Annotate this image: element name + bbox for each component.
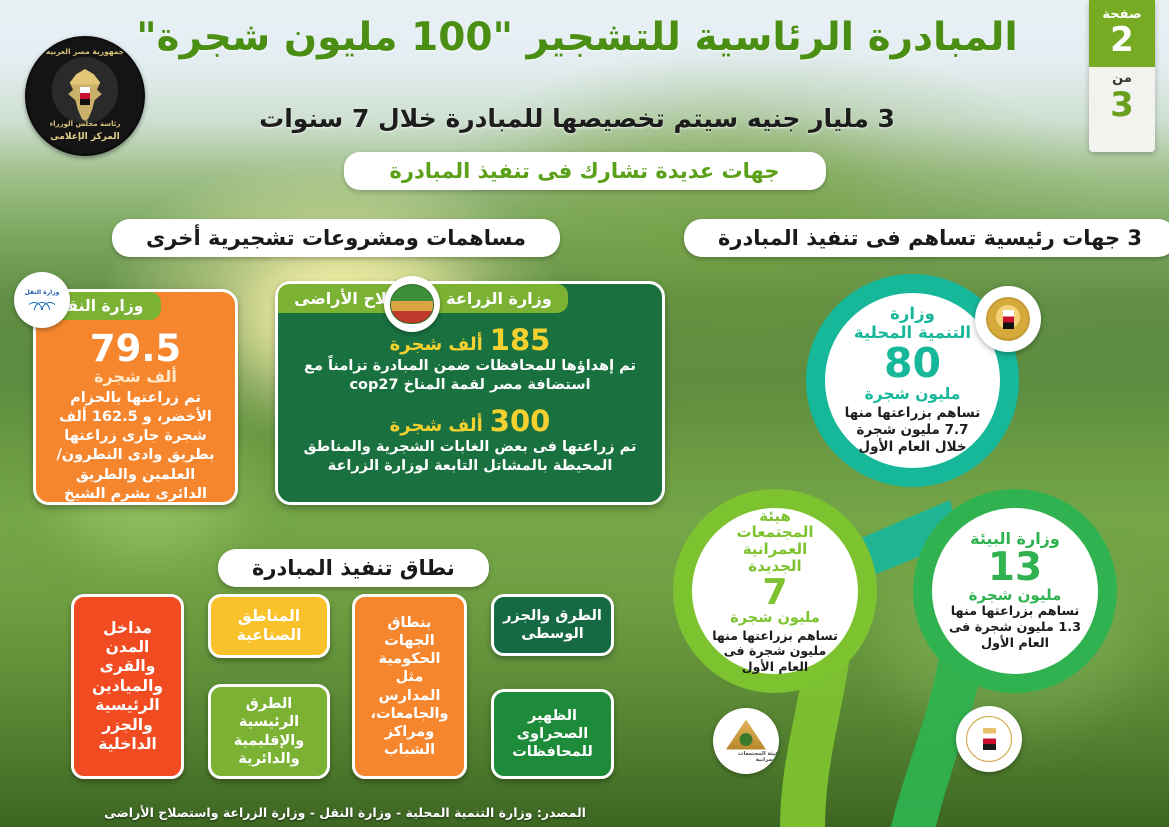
ministry-of-transport-logo-icon: وزارة النقل bbox=[14, 272, 70, 328]
scope-box: مداخل المدن والقرى والميادين الرئيسية وا… bbox=[71, 594, 184, 779]
card-description: تم زراعتها فى بعض الغابات الشجرية والمنا… bbox=[290, 438, 650, 476]
scope-box: الظهير الصحراوى للمحافظات bbox=[491, 689, 614, 779]
card-unit: ألف شجرة bbox=[48, 367, 223, 386]
section-heading-other-projects: مساهمات ومشروعات تشجيرية أخرى bbox=[112, 219, 560, 257]
card-body: 185 ألف شجرة تم إهداؤها للمحافظات ضمن ال… bbox=[278, 313, 662, 499]
source-line: المصدر: وزارة التنمية المحلية - وزارة ال… bbox=[0, 805, 690, 820]
wave-graphic bbox=[29, 298, 55, 310]
agri-item-headline: 300 ألف شجرة bbox=[290, 404, 650, 438]
circle-title-line1: هيئة bbox=[759, 508, 791, 525]
seal-graphic bbox=[966, 716, 1012, 762]
agri-item-2: 300 ألف شجرة تم زراعتها فى بعض الغابات ا… bbox=[290, 404, 650, 476]
card-number: 185 bbox=[490, 323, 551, 357]
circle-title-line2: المجتمعات العمرانية bbox=[708, 524, 842, 558]
circle-unit: مليون شجرة bbox=[865, 386, 961, 403]
pyramid-graphic bbox=[726, 720, 766, 750]
card-description: تم زراعتها بالحزام الأخضر، و 162.5 ألف ش… bbox=[48, 389, 223, 504]
urban-communities-authority-logo-icon: هيئة المجتمعات العمرانية bbox=[713, 708, 779, 774]
scope-box: الطرق الرئيسية والإقليمية والدائرية bbox=[208, 684, 330, 779]
circle-description: تساهم بزراعتها منها 7.7 مليون شجرة خلال … bbox=[841, 405, 984, 456]
card-ministry-of-transport: وزارة النقل 79.5 ألف شجرة تم زراعتها بال… bbox=[33, 289, 238, 505]
circle-number: 80 bbox=[884, 343, 941, 384]
scope-box: بنطاق الجهات الحكومية مثل المدارس والجام… bbox=[352, 594, 467, 779]
scope-box: المناطق الصناعية bbox=[208, 594, 330, 658]
card-description: تم إهداؤها للمحافظات ضمن المبادرة تزامنا… bbox=[290, 357, 650, 395]
circle-description: تساهم بزراعتها منها مليون شجرة فى العام … bbox=[708, 628, 842, 675]
ministry-of-agriculture-logo-icon bbox=[384, 276, 440, 332]
card-body: 79.5 ألف شجرة تم زراعتها بالحزام الأخضر،… bbox=[36, 320, 235, 517]
circle-number: 13 bbox=[988, 548, 1042, 587]
header-highlight-pill: جهات عديدة تشارك فى تنفيذ المبادرة bbox=[343, 152, 825, 190]
card-number: 79.5 bbox=[48, 330, 223, 367]
logo-caption: هيئة المجتمعات العمرانية bbox=[713, 751, 779, 763]
circle-environment: وزارة البيئة 13 مليون شجرة تساهم بزراعته… bbox=[913, 489, 1117, 693]
agri-item-1: 185 ألف شجرة تم إهداؤها للمحافظات ضمن ال… bbox=[290, 323, 650, 395]
header: جمهورية مصر العربية رئاسة مجلس الوزراء ا… bbox=[0, 0, 1169, 205]
section-heading-main-entities: 3 جهات رئيسية تساهم فى تنفيذ المبادرة bbox=[684, 219, 1169, 257]
page-badge-total: من 3 bbox=[1089, 67, 1155, 129]
scope-box: الطرق والجزر الوسطى bbox=[491, 594, 614, 656]
agriculture-emblem-graphic bbox=[390, 284, 434, 324]
logo-label-ar: وزارة النقل bbox=[25, 290, 60, 297]
page-badge-current: صفحة 2 bbox=[1089, 0, 1155, 67]
seal-graphic bbox=[986, 297, 1030, 341]
page-badge: صفحة 2 من 3 bbox=[1089, 0, 1155, 152]
circle-number: 7 bbox=[762, 575, 787, 611]
page-subtitle: 3 مليار جنيه سيتم تخصيصها للمبادرة خلال … bbox=[117, 104, 1037, 133]
logo-ring-bottom-text: المركز الإعلامى bbox=[27, 132, 143, 142]
egypt-eagle-seal-icon bbox=[975, 286, 1041, 352]
agri-item-headline: 185 ألف شجرة bbox=[290, 323, 650, 357]
circle-title-line1: وزارة bbox=[890, 305, 935, 323]
card-number: 300 bbox=[490, 404, 551, 438]
circle-unit: مليون شجرة bbox=[969, 587, 1062, 604]
infographic-canvas: صفحة 2 من 3 جمهورية مصر العربية رئاسة مج… bbox=[0, 0, 1169, 827]
eagle-emblem-icon bbox=[65, 69, 105, 121]
page-number: 2 bbox=[1110, 23, 1134, 57]
card-ministry-of-agriculture: وزارة الزراعة واستصلاح الأراضى 185 ألف ش… bbox=[275, 281, 665, 505]
section-heading-scope: نطاق تنفيذ المبادرة bbox=[218, 549, 489, 587]
page-total: 3 bbox=[1110, 88, 1134, 122]
circle-unit: مليون شجرة bbox=[730, 611, 820, 627]
card-unit: ألف شجرة bbox=[390, 415, 483, 436]
page-title: المبادرة الرئاسية للتشجير "100 مليون شجر… bbox=[117, 16, 1037, 61]
card-unit: ألف شجرة bbox=[390, 334, 483, 355]
ministry-of-environment-seal-icon bbox=[956, 706, 1022, 772]
circle-description: تساهم بزراعتها منها 1.3 مليون شجرة فى ال… bbox=[948, 604, 1082, 652]
circle-urban-communities: هيئة المجتمعات العمرانية الجديدة 7 مليون… bbox=[673, 489, 877, 693]
